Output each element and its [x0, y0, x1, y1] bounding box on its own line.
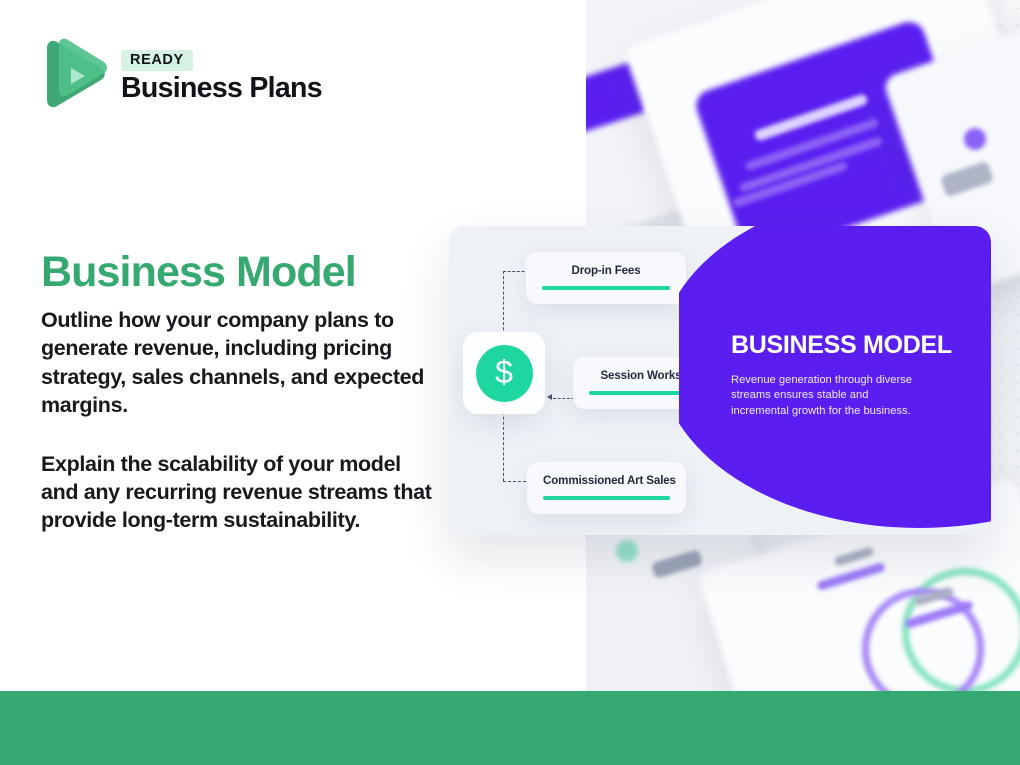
body-paragraph-1: Outline how your company plans to genera… — [41, 306, 441, 420]
business-model-card: $ Drop-in Fees Session Workshops Commiss… — [449, 226, 991, 535]
stream-node-label: Drop-in Fees — [542, 264, 670, 277]
stream-node-label: Commissioned Art Sales — [543, 474, 670, 487]
stream-node-drop-in-fees[interactable]: Drop-in Fees — [526, 252, 686, 304]
purple-panel-content: BUSINESS MODEL Revenue generation throug… — [679, 226, 991, 535]
play-triangle-logo-icon — [41, 38, 107, 116]
stream-node-progress-bar — [543, 496, 670, 500]
connector-arrow-middle — [547, 394, 552, 400]
slide-canvas: READY Business Plans Business Model Outl… — [0, 0, 1020, 765]
purple-panel-title: BUSINESS MODEL — [731, 332, 971, 360]
body-paragraph-2: Explain the scalability of your model an… — [41, 450, 441, 535]
stream-node-commissioned-art-sales[interactable]: Commissioned Art Sales — [527, 462, 686, 514]
dollar-sign-icon: $ — [476, 345, 533, 402]
svg-text:$: $ — [495, 354, 513, 390]
ready-badge: READY — [121, 50, 193, 72]
footer-band — [0, 691, 1020, 765]
page-title: Business Model — [41, 248, 356, 296]
brand-logo[interactable]: READY Business Plans — [41, 38, 322, 116]
purple-panel-subtitle: Revenue generation through diverse strea… — [731, 373, 921, 421]
body-copy: Outline how your company plans to genera… — [41, 306, 441, 535]
revenue-hub-node[interactable]: $ — [463, 332, 545, 414]
brand-name: Business Plans — [121, 73, 322, 104]
stream-node-progress-bar — [542, 286, 670, 290]
bg-dot-purple-1 — [964, 128, 986, 150]
bg-dot-green — [616, 540, 638, 562]
brand-logo-text: READY Business Plans — [121, 50, 322, 105]
